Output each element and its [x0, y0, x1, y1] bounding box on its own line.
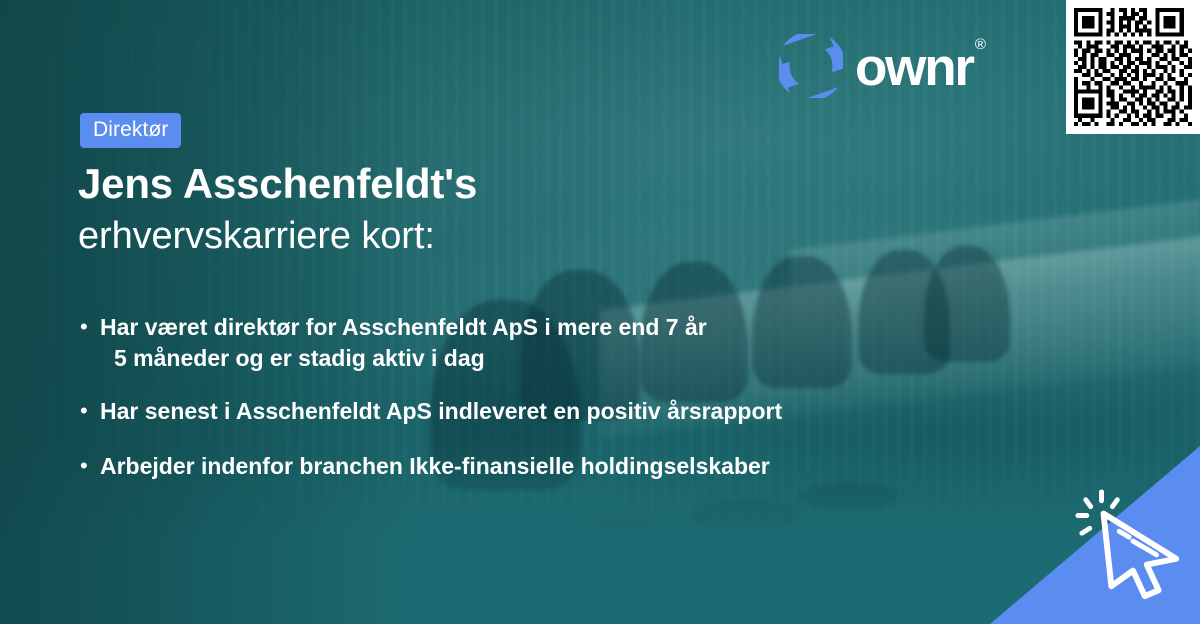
bullet-dot-icon: • — [80, 396, 100, 426]
list-item-text: Arbejder indenfor branchen Ikke-finansie… — [100, 451, 770, 482]
ownr-logo[interactable]: ownr ® — [779, 33, 984, 99]
list-item: • Har været direktør for Asschenfeldt Ap… — [80, 312, 980, 374]
registered-trademark-icon: ® — [975, 36, 986, 53]
list-item-line: Har været direktør for Asschenfeldt ApS … — [100, 314, 707, 340]
list-item: • Arbejder indenfor branchen Ikke-finans… — [80, 451, 980, 482]
list-item-continuation: 5 måneder og er stadig aktiv i dag — [100, 343, 707, 374]
page-title: Jens Asschenfeldt's — [78, 160, 477, 208]
page-subtitle: erhvervskarriere kort: — [78, 215, 435, 258]
bullet-dot-icon: • — [80, 312, 100, 342]
list-item: • Har senest i Asschenfeldt ApS indlever… — [80, 396, 980, 427]
list-item-text: Har senest i Asschenfeldt ApS indleveret… — [100, 396, 782, 427]
bullet-dot-icon: • — [80, 451, 100, 481]
career-highlights-list: • Har været direktør for Asschenfeldt Ap… — [80, 312, 980, 482]
qr-code-image — [1066, 0, 1200, 134]
ownr-wordmark: ownr — [855, 41, 973, 94]
list-item-text: Har været direktør for Asschenfeldt ApS … — [100, 312, 707, 374]
click-cursor-icon — [1074, 486, 1192, 604]
ownr-circle-swoosh-logo — [779, 34, 843, 98]
qr-code[interactable] — [1066, 0, 1200, 134]
role-badge: Direktør — [80, 113, 181, 148]
business-career-card: Direktør Jens Asschenfeldt's erhvervskar… — [0, 0, 1200, 624]
